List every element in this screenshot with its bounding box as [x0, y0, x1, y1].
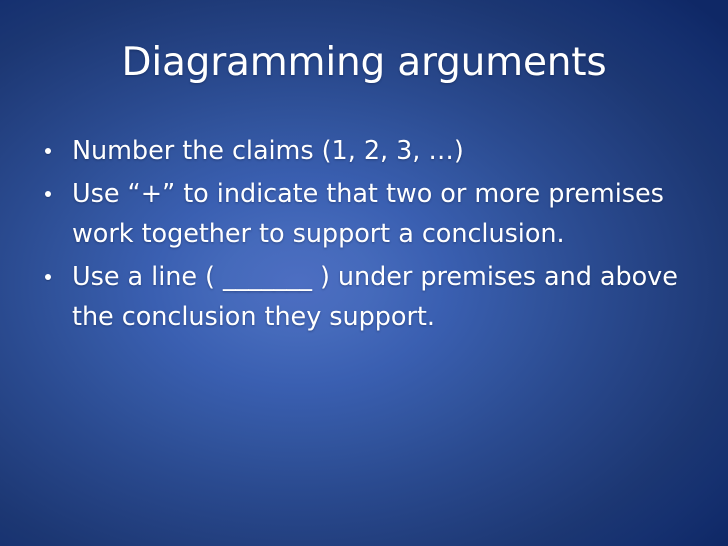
slide-title-container: Diagramming arguments	[36, 40, 692, 86]
round-bullet-icon	[45, 274, 51, 280]
list-item: Number the claims (1, 2, 3, …)	[30, 131, 702, 171]
list-item-label: Use “+” to indicate that two or more pre…	[72, 174, 702, 254]
list-item: Use a line ( _______ ) under premises an…	[30, 257, 702, 337]
round-bullet-icon	[45, 148, 51, 154]
page-title: Diagramming arguments	[36, 40, 692, 86]
list-item-label: Number the claims (1, 2, 3, …)	[72, 131, 702, 171]
round-bullet-icon	[45, 191, 51, 197]
list-item: Use “+” to indicate that two or more pre…	[30, 174, 702, 254]
slide-body-content: Number the claims (1, 2, 3, …) Use “+” t…	[30, 131, 702, 340]
slide-canvas: Diagramming arguments Number the claims …	[0, 0, 728, 546]
list-item-label: Use a line ( _______ ) under premises an…	[72, 257, 702, 337]
